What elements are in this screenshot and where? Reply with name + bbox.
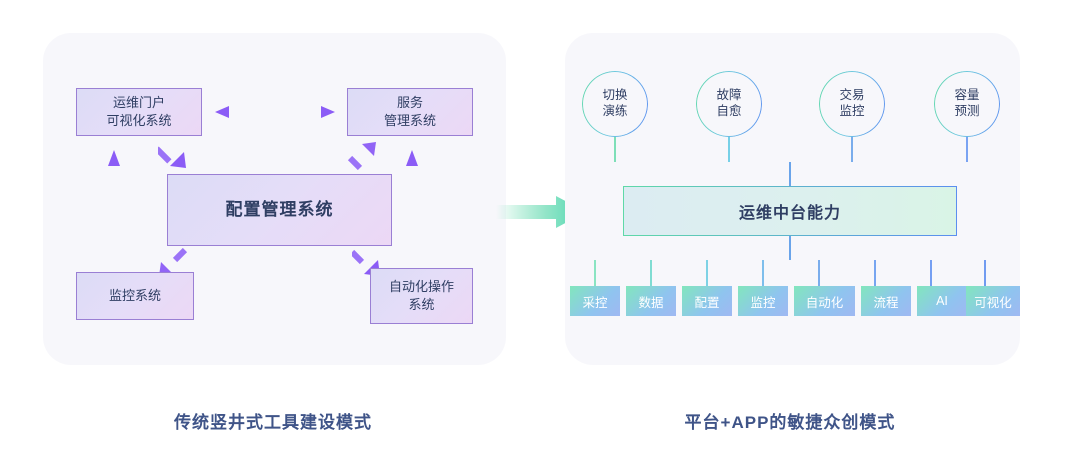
right-panel-caption: 平台+APP的敏捷众创模式 [620, 408, 960, 433]
box-label: 监控系统 [109, 287, 161, 305]
box-label-line1: 运维门户 [106, 94, 171, 112]
tag-monitor[interactable]: 监控 [738, 286, 788, 316]
platform-capability-label: 运维中台能力 [739, 199, 841, 223]
box-label-line1: 服务 [384, 94, 436, 112]
box-configuration-management[interactable]: 配置管理系统 [167, 174, 392, 246]
circle-label-line1: 故障 [716, 88, 741, 102]
tag-ai[interactable]: AI [917, 286, 967, 316]
box-label-line2: 管理系统 [384, 112, 436, 130]
arrow-portal-service-bidirectional [215, 104, 335, 120]
circle-switch-drill[interactable]: 切换 演练 [583, 72, 647, 136]
diagram-canvas: 运维门户 可视化系统 服务 管理系统 配置管理系统 监控系统 自动化操作 系统 [0, 0, 1069, 456]
circle-label-line1: 容量 [954, 88, 979, 102]
arrow-automation-to-service-up [404, 150, 420, 264]
box-label-line1: 自动化操作 [389, 278, 454, 296]
arrow-cmdb-to-service-diagonal [348, 140, 378, 170]
tag-config[interactable]: 配置 [682, 286, 732, 316]
tag-data[interactable]: 数据 [626, 286, 676, 316]
circle-label-line2: 演练 [602, 104, 627, 118]
circle-label-line2: 监控 [839, 104, 864, 118]
arrow-monitor-to-portal-up [106, 150, 122, 264]
left-panel-caption: 传统竖井式工具建设模式 [103, 408, 443, 433]
circle-label-line2: 预测 [954, 104, 979, 118]
circle-transaction-monitoring[interactable]: 交易 监控 [820, 72, 884, 136]
tag-automation[interactable]: 自动化 [794, 286, 855, 316]
tag-collect[interactable]: 采控 [570, 286, 620, 316]
circle-label-line1: 切换 [602, 88, 627, 102]
circle-capacity-forecast[interactable]: 容量 预测 [935, 72, 999, 136]
circle-label-line1: 交易 [839, 88, 864, 102]
box-automation-operation[interactable]: 自动化操作 系统 [370, 268, 473, 324]
box-service-management[interactable]: 服务 管理系统 [347, 88, 473, 136]
box-monitoring-system[interactable]: 监控系统 [76, 272, 194, 320]
box-label-line2: 系统 [389, 296, 454, 314]
tag-process[interactable]: 流程 [861, 286, 911, 316]
box-label-line2: 可视化系统 [106, 112, 171, 130]
platform-capability-bar[interactable]: 运维中台能力 [623, 186, 957, 236]
circle-label-line2: 自愈 [716, 104, 741, 118]
box-label: 配置管理系统 [226, 199, 334, 222]
arrow-portal-to-cmdb-diagonal [158, 140, 188, 170]
box-ops-portal-visualization[interactable]: 运维门户 可视化系统 [76, 88, 202, 136]
tag-visualization[interactable]: 可视化 [966, 286, 1020, 316]
circle-fault-healing[interactable]: 故障 自愈 [697, 72, 761, 136]
